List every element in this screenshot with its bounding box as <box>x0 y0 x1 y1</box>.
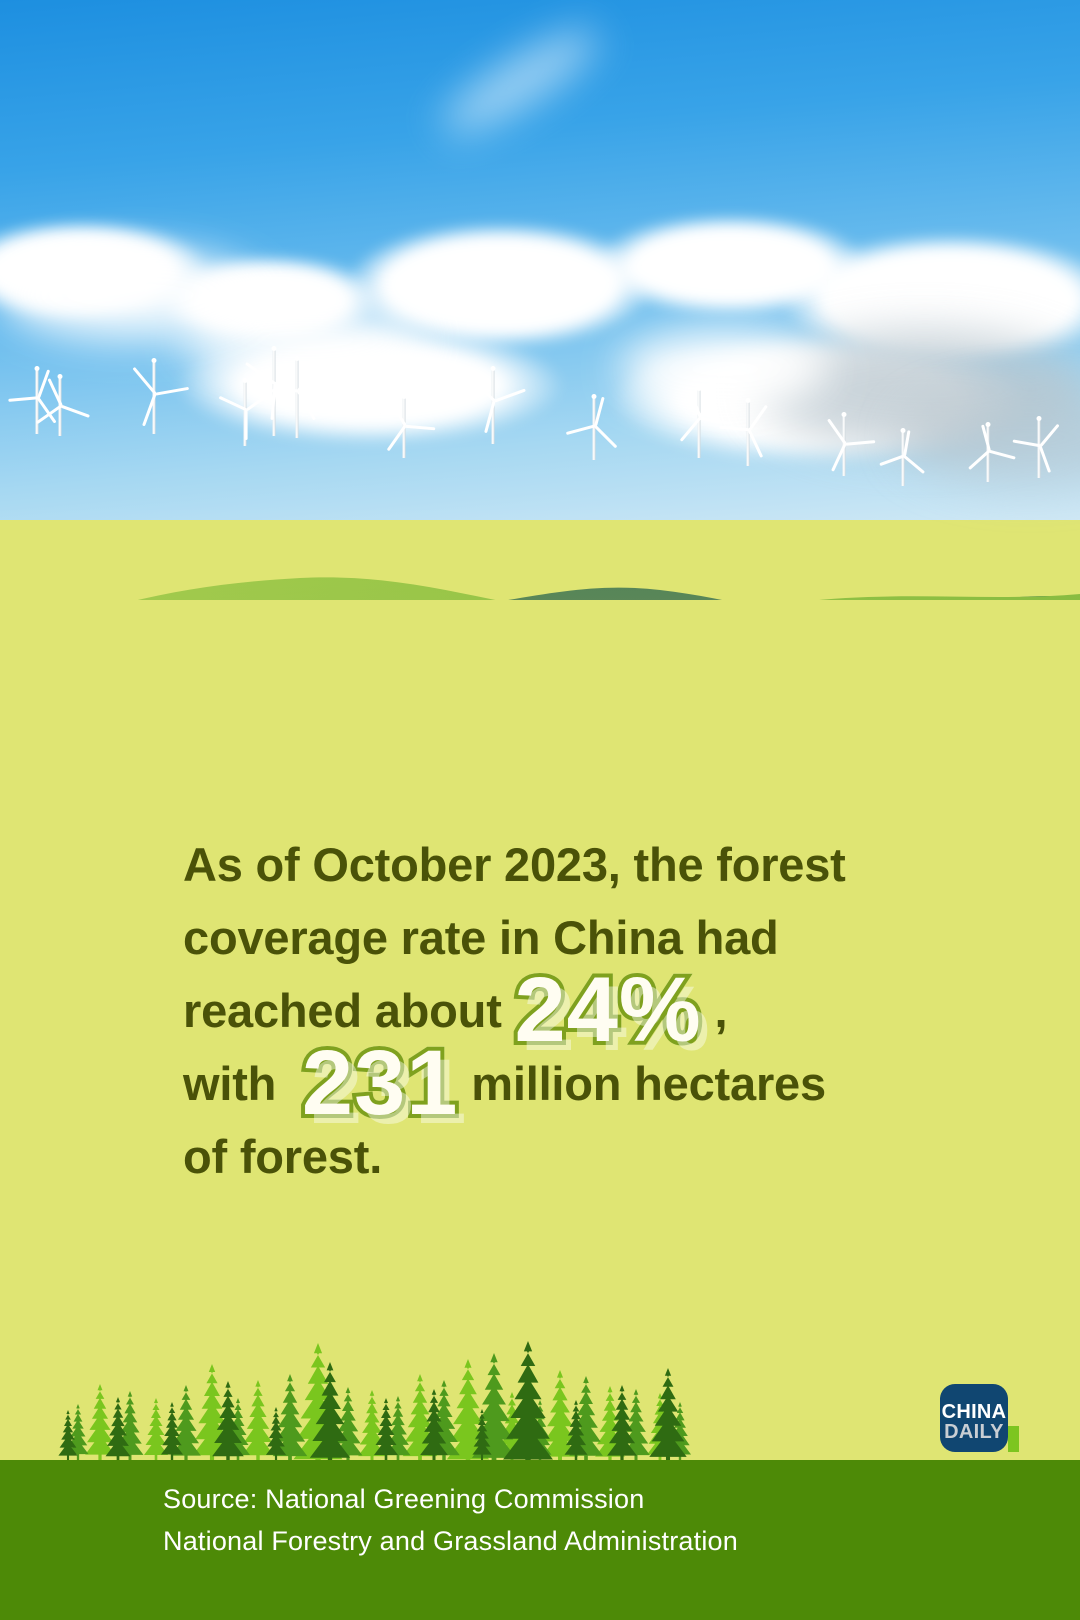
turbine-hub <box>152 358 157 363</box>
turbine-hub <box>58 374 63 379</box>
headline-line-4-prefix: with <box>183 1057 276 1110</box>
turbine-blade <box>594 425 617 448</box>
cloud-puff <box>620 330 830 408</box>
headline-line-3: reached about 24% , <box>183 974 953 1047</box>
turbine-hub <box>697 386 702 391</box>
source-line-1: Source: National Greening Commission <box>163 1478 738 1520</box>
wind-turbine <box>468 368 518 444</box>
turbine-blade <box>594 397 604 427</box>
turbine-hub <box>842 412 847 417</box>
turbine-hub <box>746 398 751 403</box>
turbine-blade <box>748 429 763 457</box>
headline-line-3-suffix: , <box>715 984 728 1037</box>
logo-accent-bar <box>1008 1426 1019 1452</box>
wind-turbine <box>40 376 80 436</box>
wind-turbine <box>968 424 1008 482</box>
turbine-hub <box>592 394 597 399</box>
wind-turbine <box>128 360 180 434</box>
wind-turbine <box>272 358 322 438</box>
headline-block: As of October 2023, the forest coverage … <box>183 828 953 1193</box>
turbine-hub <box>272 346 277 351</box>
turbine-mast <box>296 358 299 438</box>
turbine-blade <box>1039 424 1059 447</box>
stat-forest-coverage-rate-value: 24% <box>515 959 702 1061</box>
turbine-blade <box>1039 446 1051 473</box>
turbine-hub <box>295 356 300 361</box>
turbine-hub <box>986 422 991 427</box>
stat-forest-area-value: 231 <box>302 1032 459 1134</box>
turbine-hub <box>402 394 407 399</box>
headline-line-1: As of October 2023, the forest <box>183 828 953 901</box>
source-line-2: National Forestry and Grassland Administ… <box>163 1520 738 1562</box>
turbine-hub <box>1037 416 1042 421</box>
wind-turbine <box>676 388 722 458</box>
headline-line-4-suffix: million hectares <box>471 1057 826 1110</box>
headline-line-3-prefix: reached about <box>183 984 502 1037</box>
headline-line-5: of forest. <box>183 1120 953 1193</box>
wind-turbine <box>884 430 922 486</box>
turbine-hub <box>35 366 40 371</box>
logo-line-daily: DAILY <box>940 1421 1008 1444</box>
turbine-blade <box>265 390 298 393</box>
turbine-blade <box>297 361 313 392</box>
cloud-puff <box>0 250 260 340</box>
turbine-blade <box>297 390 316 420</box>
turbine-blade <box>903 455 925 474</box>
wind-turbine <box>383 396 425 458</box>
turbine-hub <box>901 428 906 433</box>
pine-tree-silhouettes <box>0 1200 1080 1460</box>
turbine-hub <box>491 366 496 371</box>
wind-turbine <box>824 414 864 476</box>
china-daily-logo[interactable]: CHINA DAILY <box>940 1384 1008 1452</box>
infographic-poster: As of October 2023, the forest coverage … <box>0 0 1080 1620</box>
wind-turbine <box>1018 418 1060 478</box>
turbine-mast <box>698 388 701 458</box>
wind-turbine <box>726 400 770 466</box>
wind-turbine <box>572 396 616 460</box>
source-credit: Source: National Greening Commission Nat… <box>163 1478 738 1562</box>
turbine-blade <box>748 405 767 431</box>
